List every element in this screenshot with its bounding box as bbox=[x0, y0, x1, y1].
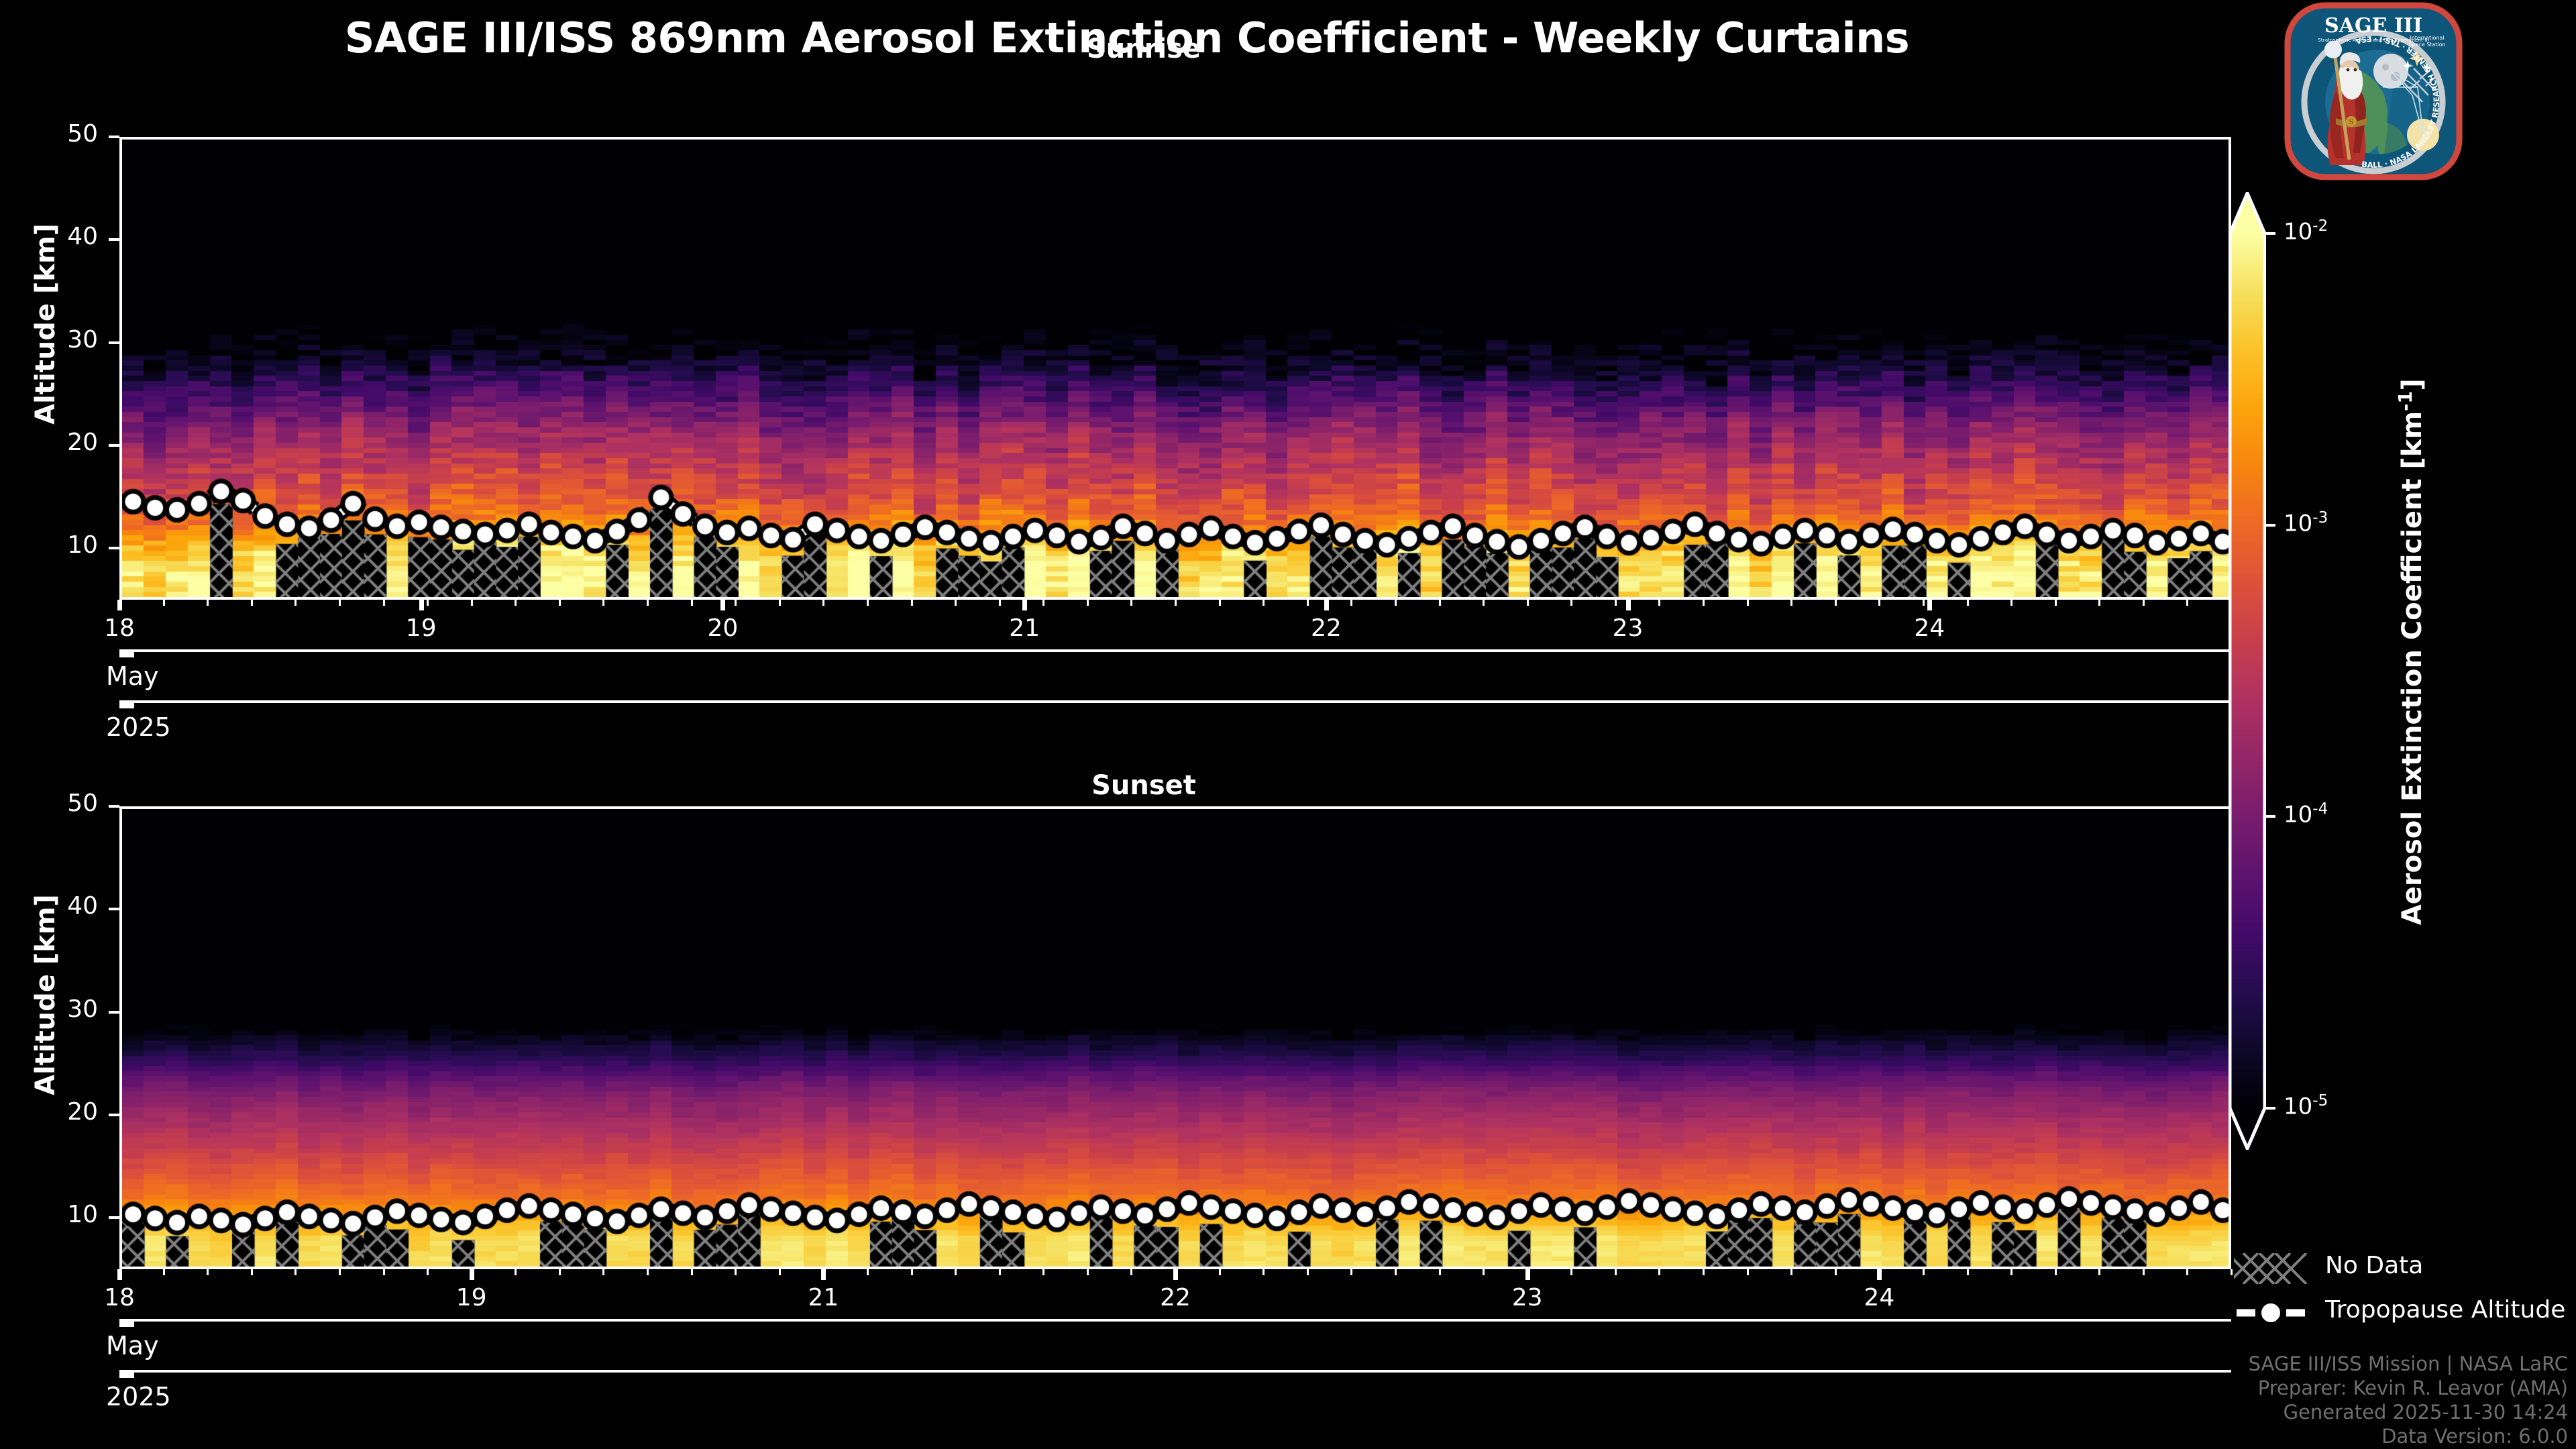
x-minor-tick-sunset bbox=[1923, 1269, 1925, 1275]
colorbar-tick-2 bbox=[2266, 815, 2275, 818]
colorbar-tick-mantissa-2: 10 bbox=[2284, 802, 2312, 828]
x-minor-tick-sunset bbox=[471, 1269, 473, 1275]
x-minor-tick-sunrise bbox=[911, 600, 913, 606]
footer-line-version: Data Version: 6.0.0 bbox=[2381, 1425, 2568, 1448]
x-minor-tick-sunset bbox=[427, 1269, 429, 1275]
x-minor-tick-sunrise bbox=[207, 600, 209, 606]
x-minor-tick-sunset bbox=[559, 1269, 561, 1275]
month-label-sunrise: May bbox=[106, 661, 159, 691]
x-tick-sunrise-22 bbox=[1324, 600, 1329, 610]
x-minor-tick-sunrise bbox=[1703, 600, 1705, 606]
colorbar[interactable] bbox=[2229, 192, 2266, 1150]
logo-title: SAGE III bbox=[2324, 14, 2422, 38]
y-tick-sunrise-10 bbox=[109, 547, 119, 549]
colorbar-tick-exponent-3: -5 bbox=[2312, 1092, 2328, 1110]
x-minor-tick-sunrise bbox=[1483, 600, 1485, 606]
y-tick-sunset-10 bbox=[109, 1216, 119, 1219]
colorbar-tick-exponent-1: -3 bbox=[2312, 509, 2328, 527]
no-data-hatch-icon bbox=[2234, 1253, 2308, 1284]
colorbar-tick-label-1: 10-3 bbox=[2284, 509, 2328, 537]
x-minor-tick-sunset bbox=[911, 1269, 913, 1275]
x-minor-tick-sunset bbox=[1658, 1269, 1660, 1275]
colorbar-tick-mantissa-1: 10 bbox=[2284, 510, 2312, 537]
x-minor-tick-sunrise bbox=[1175, 600, 1177, 606]
legend-label-no-data: No Data bbox=[2325, 1252, 2423, 1279]
year-rule-sunset bbox=[119, 1370, 2231, 1373]
y-tick-label-sunset-10: 10 bbox=[12, 1201, 98, 1228]
x-minor-tick-sunrise bbox=[1307, 600, 1309, 606]
y-tick-label-sunrise-30: 30 bbox=[12, 326, 98, 354]
colorbar-label-tail: ] bbox=[2397, 378, 2428, 390]
x-minor-tick-sunset bbox=[383, 1269, 385, 1275]
x-minor-tick-sunrise bbox=[1747, 600, 1749, 606]
panel-title-sunset: Sunset bbox=[54, 770, 2234, 801]
footer-line-mission: SAGE III/ISS Mission | NASA LaRC bbox=[2249, 1352, 2568, 1375]
footer-line-preparer: Preparer: Kevin R. Leavor (AMA) bbox=[2258, 1377, 2568, 1399]
x-minor-tick-sunrise bbox=[471, 600, 473, 606]
x-minor-tick-sunrise bbox=[691, 600, 693, 606]
x-minor-tick-sunset bbox=[1263, 1269, 1265, 1275]
x-minor-tick-sunrise bbox=[2098, 600, 2100, 606]
colorbar-tick-mantissa-3: 10 bbox=[2284, 1093, 2312, 1120]
x-minor-tick-sunrise bbox=[602, 600, 604, 606]
x-tick-sunrise-20 bbox=[720, 600, 725, 610]
y-tick-sunrise-30 bbox=[109, 341, 119, 344]
x-minor-tick-sunrise bbox=[339, 600, 341, 606]
x-minor-tick-sunrise bbox=[2010, 600, 2012, 606]
year-label-sunset: 2025 bbox=[106, 1382, 171, 1411]
legend-label-tropopause: Tropopause Altitude bbox=[2325, 1296, 2565, 1324]
x-tick-label-sunrise-18: 18 bbox=[104, 614, 135, 642]
x-minor-tick-sunrise bbox=[1527, 600, 1529, 606]
colorbar-tick-1 bbox=[2266, 524, 2275, 527]
x-minor-tick-sunrise bbox=[1835, 600, 1837, 606]
x-tick-label-sunrise-23: 23 bbox=[1613, 614, 1644, 642]
x-minor-tick-sunset bbox=[779, 1269, 781, 1275]
x-minor-tick-sunset bbox=[2143, 1269, 2145, 1275]
colorbar-tick-3 bbox=[2266, 1107, 2275, 1110]
heatmap-sunrise bbox=[122, 140, 2231, 600]
y-tick-sunset-20 bbox=[109, 1114, 119, 1116]
x-minor-tick-sunset bbox=[1878, 1269, 1880, 1275]
month-rule-sunset bbox=[119, 1319, 2231, 1322]
month-tick-sunrise bbox=[119, 649, 134, 657]
x-minor-tick-sunrise bbox=[867, 600, 869, 606]
x-minor-tick-sunrise bbox=[559, 600, 561, 606]
logo-subtitle-right-2: Space Station bbox=[2408, 42, 2445, 48]
x-minor-tick-sunrise bbox=[779, 600, 781, 606]
colorbar-label-exponent: -1 bbox=[2396, 391, 2416, 411]
colorbar-tick-label-2: 10-4 bbox=[2284, 800, 2328, 828]
x-minor-tick-sunrise bbox=[822, 600, 824, 606]
y-tick-label-sunset-20: 20 bbox=[12, 1098, 98, 1126]
x-minor-tick-sunrise bbox=[1439, 600, 1441, 606]
colorbar-outline bbox=[2229, 192, 2266, 1150]
x-minor-tick-sunset bbox=[2098, 1269, 2100, 1275]
x-tick-sunrise-19 bbox=[419, 600, 424, 610]
y-tick-label-sunrise-10: 10 bbox=[12, 531, 98, 559]
x-minor-tick-sunset bbox=[1615, 1269, 1617, 1275]
colorbar-tick-label-3: 10-5 bbox=[2284, 1092, 2328, 1120]
plot-area-sunset[interactable] bbox=[119, 806, 2231, 1269]
x-minor-tick-sunrise bbox=[1042, 600, 1044, 606]
x-tick-label-sunrise-19: 19 bbox=[406, 614, 437, 642]
x-minor-tick-sunset bbox=[955, 1269, 957, 1275]
legend-item-tropopause[interactable]: Tropopause Altitude bbox=[2234, 1296, 2556, 1330]
x-minor-tick-sunrise bbox=[1350, 600, 1352, 606]
x-minor-tick-sunrise bbox=[2143, 600, 2145, 606]
x-minor-tick-sunrise bbox=[999, 600, 1001, 606]
x-minor-tick-sunrise bbox=[2055, 600, 2057, 606]
x-minor-tick-sunset bbox=[999, 1269, 1001, 1275]
y-tick-sunrise-20 bbox=[109, 444, 119, 447]
x-minor-tick-sunrise bbox=[735, 600, 737, 606]
x-minor-tick-sunrise bbox=[1878, 600, 1880, 606]
x-tick-sunrise-24 bbox=[1927, 600, 1932, 610]
x-minor-tick-sunset bbox=[1747, 1269, 1749, 1275]
x-minor-tick-sunrise bbox=[1790, 600, 1792, 606]
x-minor-tick-sunrise bbox=[1570, 600, 1572, 606]
x-minor-tick-sunrise bbox=[955, 600, 957, 606]
x-minor-tick-sunrise bbox=[119, 600, 121, 606]
x-minor-tick-sunset bbox=[251, 1269, 253, 1275]
x-tick-label-sunrise-20: 20 bbox=[708, 614, 739, 642]
colorbar-tick-label-0: 10-2 bbox=[2284, 217, 2328, 245]
month-label-sunset: May bbox=[106, 1331, 159, 1360]
x-minor-tick-sunrise bbox=[251, 600, 253, 606]
x-tick-label-sunset-24: 24 bbox=[1864, 1284, 1894, 1311]
x-minor-tick-sunset bbox=[515, 1269, 517, 1275]
x-minor-tick-sunset bbox=[2231, 1269, 2233, 1275]
x-minor-tick-sunrise bbox=[1923, 600, 1925, 606]
x-minor-tick-sunrise bbox=[1219, 600, 1221, 606]
y-tick-label-sunset-30: 30 bbox=[12, 996, 98, 1023]
x-minor-tick-sunset bbox=[1483, 1269, 1485, 1275]
x-minor-tick-sunset bbox=[1175, 1269, 1177, 1275]
x-minor-tick-sunset bbox=[163, 1269, 165, 1275]
x-minor-tick-sunset bbox=[294, 1269, 297, 1275]
colorbar-tick-exponent-0: -2 bbox=[2312, 217, 2328, 235]
x-minor-tick-sunset bbox=[1967, 1269, 1969, 1275]
x-tick-sunrise-23 bbox=[1626, 600, 1631, 610]
x-minor-tick-sunset bbox=[1790, 1269, 1792, 1275]
x-minor-tick-sunrise bbox=[427, 600, 429, 606]
svg-text:S: S bbox=[2349, 119, 2354, 126]
x-minor-tick-sunset bbox=[1835, 1269, 1837, 1275]
x-minor-tick-sunset bbox=[1527, 1269, 1529, 1275]
x-minor-tick-sunset bbox=[207, 1269, 209, 1275]
x-tick-label-sunrise-22: 22 bbox=[1311, 614, 1342, 642]
x-minor-tick-sunset bbox=[602, 1269, 604, 1275]
colorbar-tick-0 bbox=[2266, 232, 2275, 235]
x-minor-tick-sunset bbox=[867, 1269, 869, 1275]
x-minor-tick-sunrise bbox=[1395, 600, 1397, 606]
x-minor-tick-sunrise bbox=[163, 600, 165, 606]
colorbar-axis-label: Aerosol Extinction Coefficient [km-1] bbox=[2396, 415, 2428, 925]
x-minor-tick-sunrise bbox=[1087, 600, 1089, 606]
x-tick-label-sunset-22: 22 bbox=[1160, 1284, 1191, 1311]
year-tick-sunset bbox=[119, 1370, 134, 1378]
x-minor-tick-sunrise bbox=[383, 600, 385, 606]
month-tick-sunset bbox=[119, 1319, 134, 1327]
x-minor-tick-sunset bbox=[1219, 1269, 1221, 1275]
x-tick-label-sunrise-21: 21 bbox=[1009, 614, 1040, 642]
legend-item-no-data[interactable]: No Data bbox=[2234, 1252, 2556, 1285]
year-rule-sunrise bbox=[119, 700, 2231, 703]
x-minor-tick-sunset bbox=[1130, 1269, 1132, 1275]
x-minor-tick-sunrise bbox=[1967, 600, 1969, 606]
x-tick-label-sunset-23: 23 bbox=[1512, 1284, 1543, 1311]
x-minor-tick-sunset bbox=[339, 1269, 341, 1275]
x-minor-tick-sunset bbox=[647, 1269, 649, 1275]
x-minor-tick-sunset bbox=[691, 1269, 693, 1275]
colorbar-tick-exponent-2: -4 bbox=[2312, 800, 2328, 818]
y-tick-label-sunrise-50: 50 bbox=[12, 120, 98, 148]
x-minor-tick-sunset bbox=[1439, 1269, 1441, 1275]
month-rule-sunrise bbox=[119, 649, 2231, 652]
y-tick-label-sunset-40: 40 bbox=[12, 892, 98, 920]
panel-title-sunrise: Sunrise bbox=[54, 34, 2234, 64]
x-minor-tick-sunset bbox=[1087, 1269, 1089, 1275]
x-tick-label-sunset-18: 18 bbox=[104, 1284, 135, 1311]
y-tick-sunrise-50 bbox=[109, 136, 119, 138]
x-minor-tick-sunset bbox=[822, 1269, 824, 1275]
y-tick-label-sunrise-20: 20 bbox=[12, 429, 98, 456]
x-minor-tick-sunrise bbox=[1658, 600, 1660, 606]
x-tick-label-sunrise-24: 24 bbox=[1914, 614, 1945, 642]
y-tick-label-sunset-50: 50 bbox=[12, 790, 98, 817]
x-minor-tick-sunrise bbox=[1263, 600, 1265, 606]
footer-line-generated: Generated 2025-11-30 14:24 bbox=[2284, 1401, 2568, 1424]
year-label-sunrise: 2025 bbox=[106, 712, 171, 742]
heatmap-sunset bbox=[122, 809, 2231, 1269]
x-minor-tick-sunset bbox=[1307, 1269, 1309, 1275]
x-minor-tick-sunset bbox=[2186, 1269, 2188, 1275]
x-minor-tick-sunrise bbox=[1130, 600, 1132, 606]
x-minor-tick-sunrise bbox=[1615, 600, 1617, 606]
figure-root: SAGE III/ISS 869nm Aerosol Extinction Co… bbox=[0, 0, 2576, 1449]
x-minor-tick-sunrise bbox=[647, 600, 649, 606]
y-tick-label-sunrise-40: 40 bbox=[12, 223, 98, 250]
tropopause-marker-icon bbox=[2234, 1297, 2308, 1328]
x-minor-tick-sunset bbox=[735, 1269, 737, 1275]
x-minor-tick-sunset bbox=[2010, 1269, 2012, 1275]
y-tick-sunset-30 bbox=[109, 1011, 119, 1014]
logo-subtitle-right-1: International bbox=[2410, 35, 2444, 41]
x-tick-sunrise-21 bbox=[1022, 600, 1027, 610]
x-minor-tick-sunrise bbox=[294, 600, 297, 606]
y-tick-sunset-50 bbox=[109, 805, 119, 808]
x-minor-tick-sunset bbox=[1570, 1269, 1572, 1275]
mission-patch-svg: S SAGE III Stratospheric Aerosol and Gas… bbox=[2284, 1, 2463, 181]
plot-area-sunrise[interactable] bbox=[119, 137, 2231, 600]
y-tick-sunset-40 bbox=[109, 908, 119, 910]
x-minor-tick-sunset bbox=[1395, 1269, 1397, 1275]
colorbar-tick-mantissa-0: 10 bbox=[2284, 218, 2312, 245]
colorbar-label-text: Aerosol Extinction Coefficient [km bbox=[2397, 411, 2428, 925]
y-tick-sunrise-40 bbox=[109, 238, 119, 241]
x-minor-tick-sunrise bbox=[515, 600, 517, 606]
x-minor-tick-sunset bbox=[119, 1269, 121, 1275]
x-tick-label-sunset-21: 21 bbox=[808, 1284, 839, 1311]
x-tick-label-sunset-19: 19 bbox=[456, 1284, 487, 1311]
sage-iii-iss-mission-logo: S SAGE III Stratospheric Aerosol and Gas… bbox=[2284, 1, 2463, 181]
x-minor-tick-sunset bbox=[1703, 1269, 1705, 1275]
x-minor-tick-sunset bbox=[2055, 1269, 2057, 1275]
x-minor-tick-sunset bbox=[1350, 1269, 1352, 1275]
x-minor-tick-sunrise bbox=[2186, 600, 2188, 606]
year-tick-sunrise bbox=[119, 700, 134, 708]
x-minor-tick-sunset bbox=[1042, 1269, 1044, 1275]
